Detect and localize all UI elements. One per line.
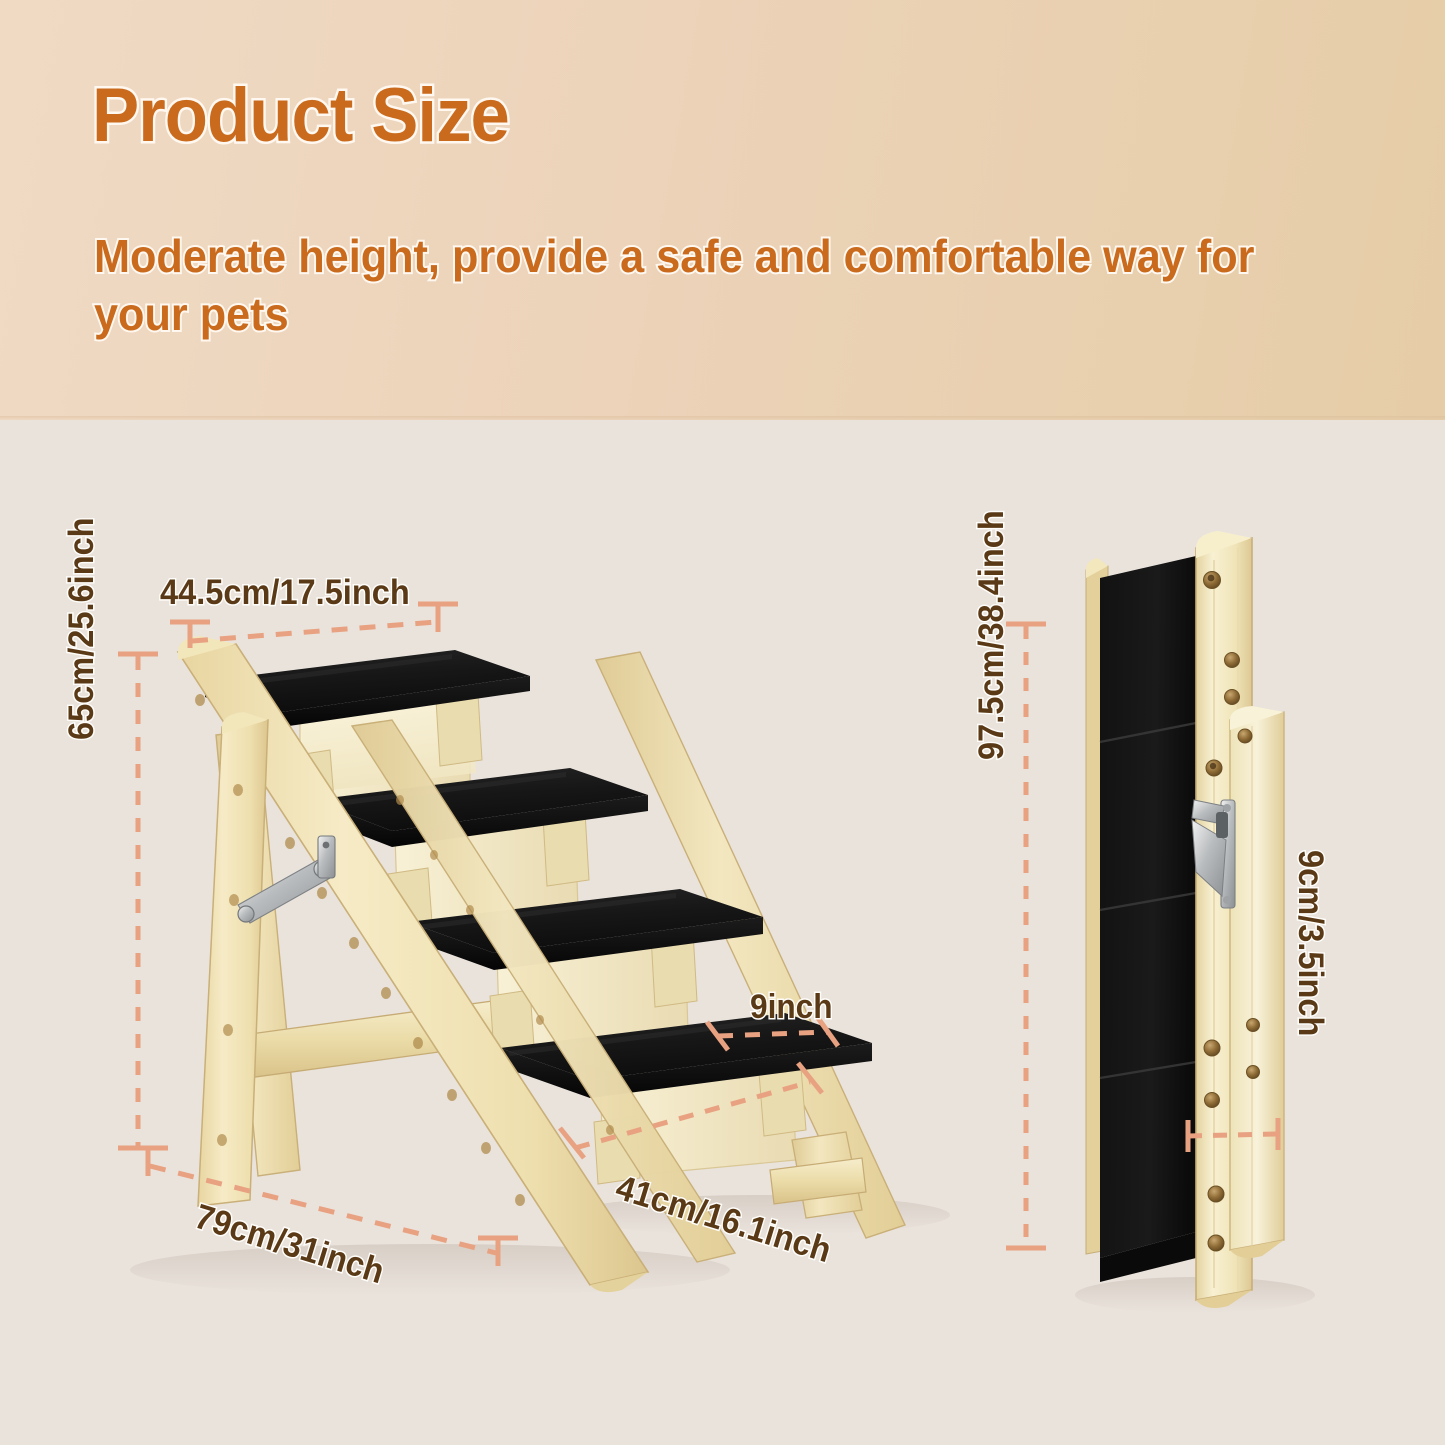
pet-stairs-folded-view bbox=[1086, 531, 1284, 1308]
dim-label-overall-height: 65cm/25.6inch bbox=[62, 517, 102, 740]
dim-label-top-step-width: 44.5cm/17.5inch bbox=[160, 573, 410, 613]
dim-label-folded-height: 97.5cm/38.4inch bbox=[972, 510, 1012, 760]
product-size-infographic: Product Size Moderate height, provide a … bbox=[0, 0, 1445, 1445]
dim-label-folded-thickness: 9cm/3.5inch bbox=[1290, 850, 1330, 1036]
pet-stairs-open-view bbox=[178, 636, 905, 1292]
dim-label-step-depth: 9inch bbox=[750, 988, 833, 1027]
